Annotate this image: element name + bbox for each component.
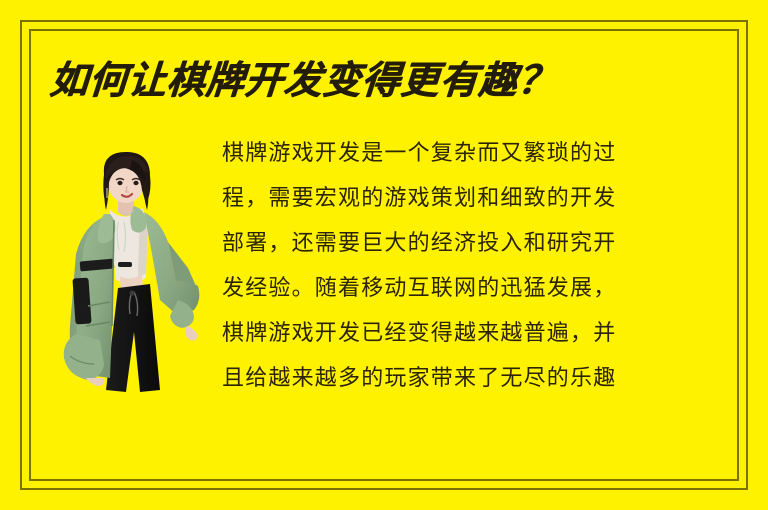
body-line: 程，需要宏观的游戏策划和细致的开发 [222, 176, 740, 221]
body-line: 棋牌游戏开发已经变得越来越普遍，并 [222, 311, 740, 356]
body-line: 棋牌游戏开发是一个复杂而又繁琐的过 [222, 131, 740, 176]
page-title: 如何让棋牌开发变得更有趣？ [48, 56, 691, 104]
body-line: 发经验。随着移动互联网的迅猛发展， [222, 266, 740, 311]
body-line: 且给越来越多的玩家带来了无尽的乐趣 [222, 356, 740, 401]
body-line: 部署，还需要巨大的经济投入和研究开 [222, 221, 740, 266]
body-paragraph: 棋牌游戏开发是一个复杂而又繁琐的过 程，需要宏观的游戏策划和细致的开发 部署，还… [222, 131, 740, 401]
woman-in-green-jacket-illustration [48, 150, 210, 398]
poster-canvas: 如何让棋牌开发变得更有趣？ [0, 0, 768, 510]
